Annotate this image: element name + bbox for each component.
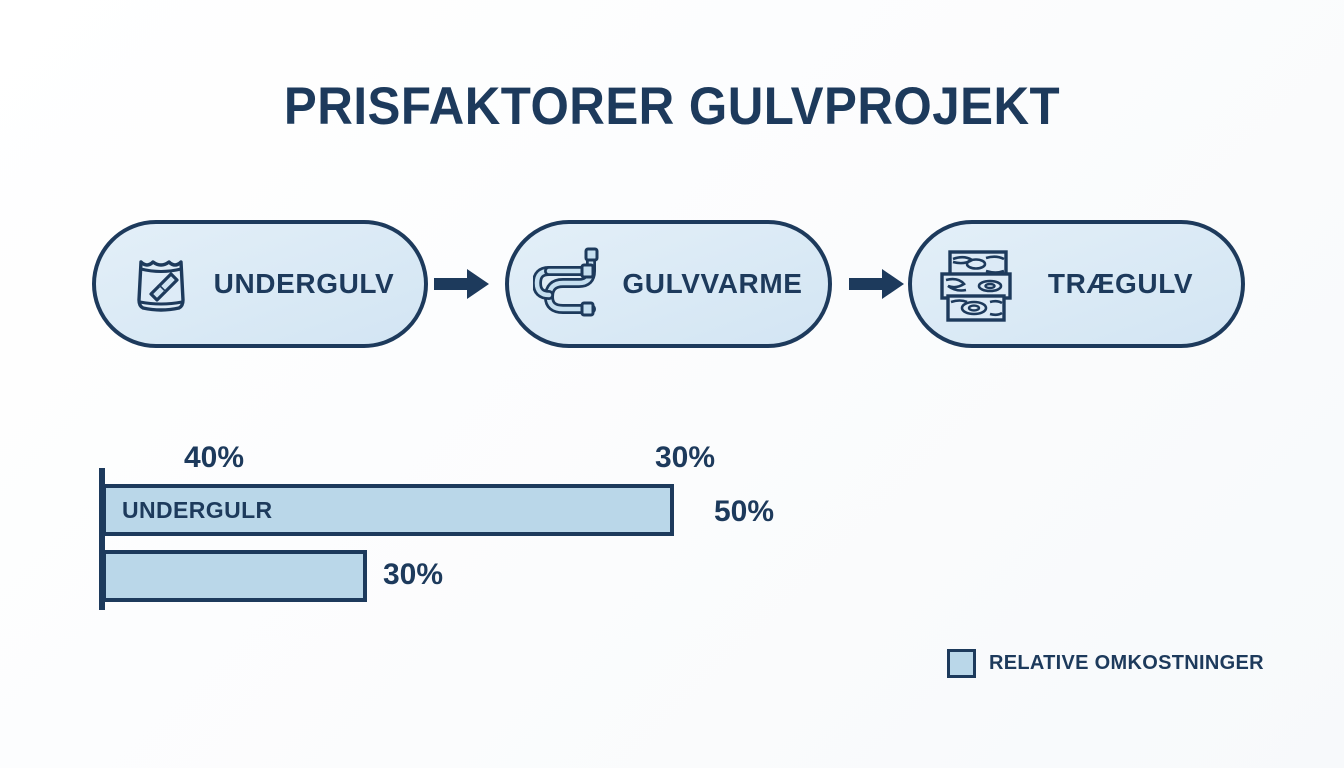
floating-value-label: 30% <box>655 441 715 475</box>
flow-step-label: UNDERGULV <box>204 268 424 300</box>
flow-step-undergulv[interactable]: UNDERGULV <box>92 220 428 348</box>
bar-value-label: 30% <box>383 558 443 592</box>
bar-value-label: 50% <box>714 495 774 529</box>
page-title: PRISFAKTORER GULVPROJEKT <box>47 78 1297 136</box>
wood-planks-icon <box>934 241 1020 327</box>
arrow-right-icon <box>434 267 490 301</box>
flow-step-label: GULVVARME <box>617 268 828 300</box>
floating-value-label: 40% <box>184 441 244 475</box>
flow-step-label: TRÆGULV <box>1020 268 1241 300</box>
chart-y-axis <box>99 468 105 610</box>
bar-category-label: UNDERGULR <box>106 497 273 524</box>
cement-bag-icon <box>118 241 204 327</box>
bar-row[interactable]: UNDERGULR <box>102 484 674 536</box>
floor-heating-pipe-icon <box>531 241 617 327</box>
bar-row[interactable] <box>102 550 367 602</box>
flow-step-gulvvarme[interactable]: GULVVARME <box>505 220 832 348</box>
flow-step-traegulv[interactable]: TRÆGULV <box>908 220 1245 348</box>
infographic-canvas: PRISFAKTORER GULVPROJEKT UNDERGULV <box>0 0 1344 768</box>
legend-color-swatch <box>947 649 976 678</box>
legend-label: RELATIVE OMKOSTNINGER <box>989 652 1264 675</box>
chart-legend: RELATIVE OMKOSTNINGER <box>947 649 1264 678</box>
arrow-right-icon <box>849 267 905 301</box>
